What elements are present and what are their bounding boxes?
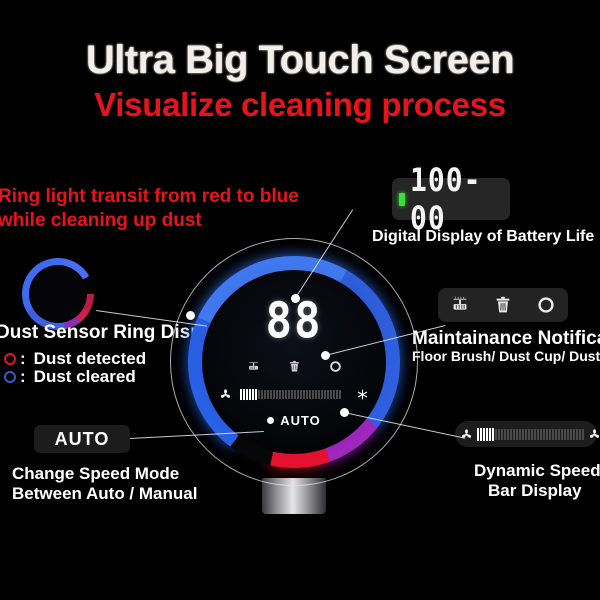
speed-bar-segment-inactive bbox=[576, 429, 578, 440]
speed-bar-segment-inactive bbox=[501, 429, 503, 440]
dial-auto-callout-dot bbox=[267, 417, 274, 424]
fan-icon-right bbox=[588, 428, 600, 441]
speed-bar-segment-inactive bbox=[546, 429, 548, 440]
legend-detected-colon: : bbox=[20, 349, 26, 369]
speed-bar-segment-inactive bbox=[510, 429, 512, 440]
dust-sensor-ring-graphic bbox=[22, 258, 94, 330]
speed-bar-segment-inactive bbox=[294, 390, 296, 399]
annotation-maintenance-title: Maintainance Notification bbox=[412, 328, 600, 350]
speed-bar-segment-inactive bbox=[330, 390, 332, 399]
annotation-dynamic-speed-line2: Bar Display bbox=[488, 481, 582, 501]
speed-bar-segment-active bbox=[240, 389, 242, 400]
speed-bar-segment-active bbox=[255, 389, 257, 400]
speed-bar-segment-inactive bbox=[324, 390, 326, 399]
speed-bar-segment-inactive bbox=[327, 390, 329, 399]
speed-bar-segment-inactive bbox=[315, 390, 317, 399]
speed-bar-segment-active bbox=[249, 389, 251, 400]
dynamic-speed-bar-display bbox=[455, 421, 597, 447]
dial-digits: 88 bbox=[266, 293, 323, 350]
speed-bar-segment-inactive bbox=[537, 429, 539, 440]
legend-cleared-colon: : bbox=[20, 367, 26, 387]
speed-bar-segment-inactive bbox=[525, 429, 527, 440]
speed-bar-segment-inactive bbox=[300, 390, 302, 399]
speed-bar-segment-inactive bbox=[321, 390, 323, 399]
speed-bar-segment-inactive bbox=[297, 390, 299, 399]
floor-brush-icon bbox=[246, 359, 261, 374]
speed-bar-segment-inactive bbox=[309, 390, 311, 399]
annotation-ring-transit-line2: while cleaning up dust bbox=[0, 209, 299, 233]
speed-bar-segment-inactive bbox=[270, 390, 272, 399]
speed-bar-segment-inactive bbox=[573, 429, 575, 440]
speed-bar-segment-active bbox=[486, 428, 488, 441]
speed-bar-segment-inactive bbox=[522, 429, 524, 440]
speed-bar-segment-inactive bbox=[558, 429, 560, 440]
speed-bar-segment-inactive bbox=[282, 390, 284, 399]
speed-bar-segment-inactive bbox=[333, 390, 335, 399]
legend-dust-cleared: : Dust cleared bbox=[4, 367, 136, 387]
speed-bar-segment-inactive bbox=[570, 429, 572, 440]
fan-icon bbox=[460, 428, 473, 441]
speed-bar-segment-inactive bbox=[276, 390, 278, 399]
speed-bar-segment-inactive bbox=[543, 429, 545, 440]
speed-bar-segment-inactive bbox=[264, 390, 266, 399]
dust-cup-icon bbox=[492, 294, 514, 316]
speed-bar-segment-inactive bbox=[318, 390, 320, 399]
callout-dot-dust-sensor bbox=[186, 311, 195, 320]
speed-bar-segment-inactive bbox=[303, 390, 305, 399]
speed-bar-segment-active bbox=[489, 428, 491, 441]
dial-speed-segments bbox=[240, 389, 348, 400]
speed-bar-segment-inactive bbox=[288, 390, 290, 399]
annotation-ring-transit: Ring light transit from red to blue whil… bbox=[0, 185, 299, 233]
annotation-ring-transit-line1: Ring light transit from red to blue bbox=[0, 185, 299, 209]
speed-bar-segment-inactive bbox=[534, 429, 536, 440]
floor-brush-icon bbox=[449, 294, 471, 316]
speed-bar-segment-inactive bbox=[339, 390, 341, 399]
fan-icon bbox=[219, 388, 232, 401]
annotation-speed-mode-line1: Change Speed Mode bbox=[12, 464, 179, 484]
speed-bar-segment-inactive bbox=[540, 429, 542, 440]
dust-cleared-indicator-icon bbox=[4, 371, 16, 383]
product-feature-image: Ultra Big Touch Screen Visualize cleanin… bbox=[0, 0, 600, 600]
speed-bar-segment-active bbox=[246, 389, 248, 400]
auto-pill-label: AUTO bbox=[55, 429, 110, 450]
dust-sensor-icon bbox=[535, 294, 557, 316]
speed-bar-segment-active bbox=[477, 428, 479, 441]
annotation-dynamic-speed-line1: Dynamic Speed bbox=[474, 461, 600, 481]
annotation-speed-mode-line2: Between Auto / Manual bbox=[12, 484, 197, 504]
dial-maintenance-icons bbox=[246, 359, 343, 374]
legend-dust-detected: : Dust detected bbox=[4, 349, 146, 369]
battery-digital-display: 100-00 bbox=[392, 178, 510, 220]
annotation-maintenance-sub: Floor Brush/ Dust Cup/ Dust Sensor bbox=[412, 348, 600, 364]
speed-bar-segment-inactive bbox=[291, 390, 293, 399]
speed-bar-segment-inactive bbox=[498, 429, 500, 440]
page-title: Ultra Big Touch Screen bbox=[0, 38, 600, 83]
speed-bar-segment-inactive bbox=[579, 429, 581, 440]
dial-face: 88 bbox=[202, 270, 386, 454]
battery-led-icon bbox=[399, 193, 405, 206]
speed-bar-segment-inactive bbox=[549, 429, 551, 440]
maintenance-notification-bar bbox=[438, 288, 568, 322]
speed-bar-segment-inactive bbox=[528, 429, 530, 440]
speed-bar-segment-active bbox=[480, 428, 482, 441]
dust-cup-icon bbox=[287, 359, 302, 374]
speed-bar-segment-inactive bbox=[279, 390, 281, 399]
speed-bar-segment-inactive bbox=[495, 429, 497, 440]
dial-speed-bar bbox=[219, 388, 369, 401]
speed-bar-segment-inactive bbox=[516, 429, 518, 440]
legend-detected-label: Dust detected bbox=[34, 349, 146, 369]
speed-bar-segment-inactive bbox=[513, 429, 515, 440]
speed-bar-segment-active bbox=[252, 389, 254, 400]
legend-cleared-label: Dust cleared bbox=[34, 367, 136, 387]
speed-bar-segment-active bbox=[483, 428, 485, 441]
snowflake-icon bbox=[356, 388, 369, 401]
speed-bar-segments bbox=[477, 428, 584, 441]
auto-mode-pill: AUTO bbox=[34, 425, 130, 453]
speed-bar-segment-inactive bbox=[567, 429, 569, 440]
dial-auto-label: AUTO bbox=[280, 413, 321, 428]
speed-bar-segment-inactive bbox=[564, 429, 566, 440]
speed-bar-segment-inactive bbox=[336, 390, 338, 399]
speed-bar-segment-inactive bbox=[261, 390, 263, 399]
speed-bar-segment-inactive bbox=[531, 429, 533, 440]
speed-bar-segment-inactive bbox=[312, 390, 314, 399]
speed-bar-segment-inactive bbox=[561, 429, 563, 440]
dust-detected-indicator-icon bbox=[4, 353, 16, 365]
speed-bar-segment-inactive bbox=[267, 390, 269, 399]
speed-bar-segment-active bbox=[243, 389, 245, 400]
speed-bar-segment-inactive bbox=[552, 429, 554, 440]
main-touch-screen-dial: 88 bbox=[170, 238, 418, 486]
speed-bar-segment-inactive bbox=[504, 429, 506, 440]
speed-bar-segment-inactive bbox=[582, 429, 584, 440]
speed-bar-segment-inactive bbox=[306, 390, 308, 399]
dust-sensor-icon bbox=[328, 359, 343, 374]
speed-bar-segment-inactive bbox=[258, 390, 260, 399]
page-subtitle: Visualize cleaning process bbox=[0, 86, 600, 124]
speed-bar-segment-inactive bbox=[519, 429, 521, 440]
speed-bar-segment-inactive bbox=[555, 429, 557, 440]
speed-bar-segment-inactive bbox=[285, 390, 287, 399]
speed-bar-segment-inactive bbox=[507, 429, 509, 440]
dial-auto-row: AUTO bbox=[267, 413, 321, 428]
battery-value: 100-00 bbox=[410, 161, 510, 237]
speed-bar-segment-active bbox=[492, 428, 494, 441]
speed-bar-segment-inactive bbox=[273, 390, 275, 399]
